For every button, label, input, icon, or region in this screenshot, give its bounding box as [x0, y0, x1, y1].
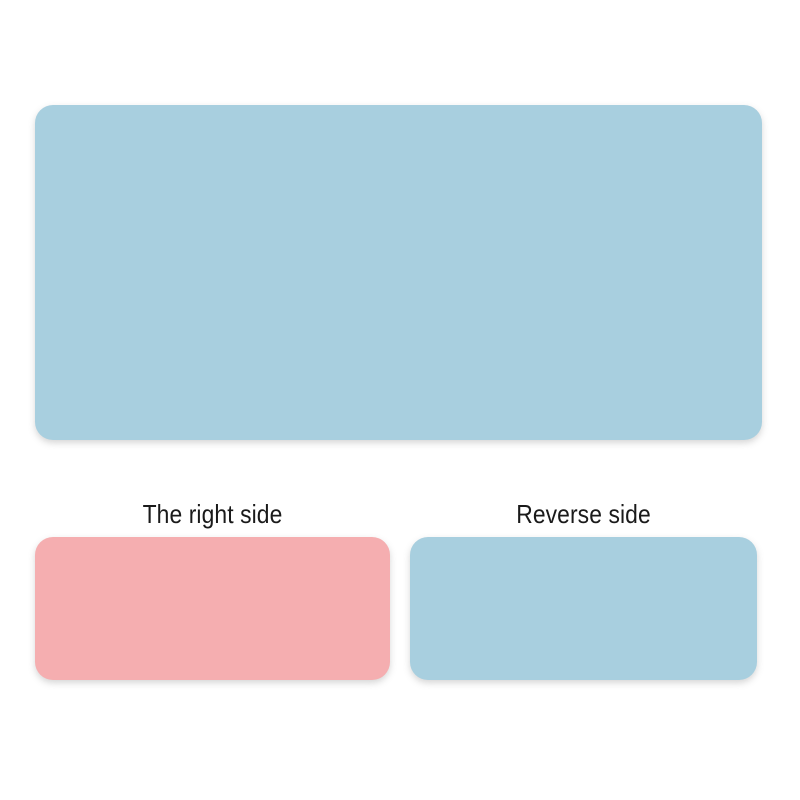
reverse-side-label: Reverse side	[431, 498, 736, 530]
reverse-side-card[interactable]	[410, 537, 757, 680]
front-side-card[interactable]	[35, 537, 390, 680]
large-preview-card[interactable]	[35, 105, 762, 440]
front-side-label: The right side	[56, 498, 368, 530]
card-preview-stage: The right side Reverse side	[0, 0, 800, 800]
